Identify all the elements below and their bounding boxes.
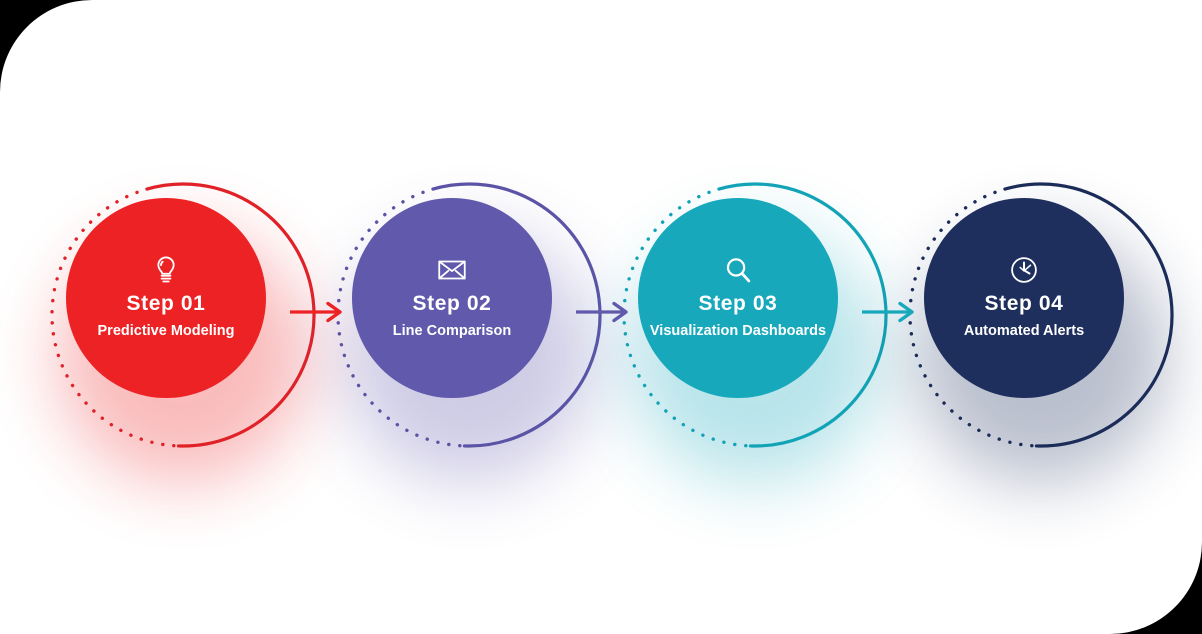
step-number: Step 01 <box>127 292 206 315</box>
step-number: Step 03 <box>699 292 778 315</box>
step-number: Step 04 <box>985 292 1064 315</box>
envelope-icon <box>435 253 469 287</box>
search-icon <box>721 253 755 287</box>
process-step-1[interactable]: Step 01Predictive Modeling <box>38 170 328 460</box>
process-step-2[interactable]: Step 02Line Comparison <box>324 170 614 460</box>
connector-arrow-2 <box>574 298 636 326</box>
connector-arrow-1 <box>288 298 350 326</box>
connector-arrow-3 <box>860 298 922 326</box>
step-disc[interactable]: Step 01Predictive Modeling <box>66 198 266 398</box>
process-step-4[interactable]: Step 04Automated Alerts <box>896 170 1186 460</box>
infographic-canvas: Step 01Predictive ModelingStep 02Line Co… <box>0 0 1202 634</box>
step-label: Line Comparison <box>393 322 511 341</box>
step-disc[interactable]: Step 04Automated Alerts <box>924 198 1124 398</box>
clock-icon <box>1007 253 1041 287</box>
step-disc[interactable]: Step 02Line Comparison <box>352 198 552 398</box>
step-label: Automated Alerts <box>964 322 1084 341</box>
step-disc[interactable]: Step 03Visualization Dashboards <box>638 198 838 398</box>
lightbulb-icon <box>149 253 183 287</box>
step-label: Visualization Dashboards <box>650 322 826 341</box>
step-number: Step 02 <box>413 292 492 315</box>
step-label: Predictive Modeling <box>98 322 235 341</box>
process-step-3[interactable]: Step 03Visualization Dashboards <box>610 170 900 460</box>
